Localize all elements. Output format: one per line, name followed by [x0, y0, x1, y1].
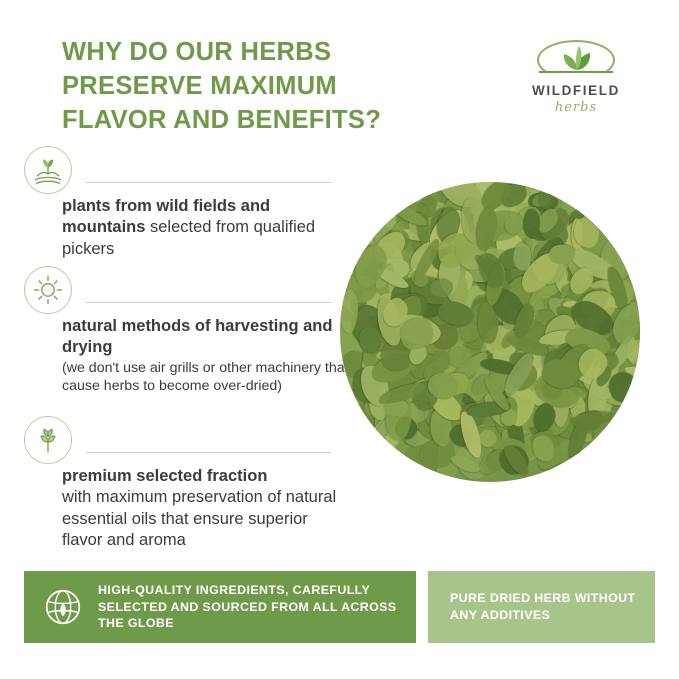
logo-brand-name: WILDFIELD: [508, 84, 644, 99]
logo-brand-sub: herbs: [508, 100, 644, 115]
brand-logo: WILDFIELD herbs: [508, 38, 644, 122]
banner-quality: HIGH-QUALITY INGREDIENTS, CAREFULLY SELE…: [24, 571, 416, 643]
feature-text-1: plants from wild fields and mountains se…: [62, 196, 352, 260]
feature-bold-3: premium selected fraction: [62, 467, 267, 485]
feature-text-3: premium selected fraction with maximum p…: [62, 466, 352, 551]
feature-divider-2: [86, 302, 331, 303]
feature-text-2: natural methods of harvesting and drying…: [62, 316, 352, 396]
feature-bold-2: natural methods of harvesting and drying: [62, 317, 332, 356]
product-infographic: WHY DO OUR HERBS PRESERVE MAXIMUM FLAVOR…: [0, 0, 679, 679]
dried-herb-leaves-pile: [340, 182, 640, 482]
herb-sprig-icon: [24, 416, 72, 464]
sprout-field-icon: [24, 146, 72, 194]
feature-note-2: (we don't use air grills or other machin…: [62, 359, 352, 397]
product-photo: [330, 168, 650, 516]
banner-left-text: HIGH-QUALITY INGREDIENTS, CAREFULLY SELE…: [98, 582, 416, 632]
leaves-icon: [558, 43, 596, 71]
feature-divider-3: [86, 452, 331, 453]
page-title: WHY DO OUR HERBS PRESERVE MAXIMUM FLAVOR…: [62, 36, 482, 138]
headline-line-3: FLAVOR AND BENEFITS?: [62, 104, 482, 138]
headline-line-1: WHY DO OUR HERBS: [62, 36, 482, 70]
sun-icon: [24, 266, 72, 314]
logo-mark: [537, 38, 615, 82]
feature-divider-1: [86, 182, 331, 183]
globe-leaf-icon: [40, 584, 86, 630]
feature-note-3: with maximum preservation of natural ess…: [62, 487, 352, 551]
banner-right-text: PURE DRIED HERB WITHOUT ANY ADDITIVES: [450, 590, 655, 623]
logo-divider: [539, 71, 613, 73]
banner-pure: PURE DRIED HERB WITHOUT ANY ADDITIVES: [428, 571, 655, 643]
headline-line-2: PRESERVE MAXIMUM: [62, 70, 482, 104]
